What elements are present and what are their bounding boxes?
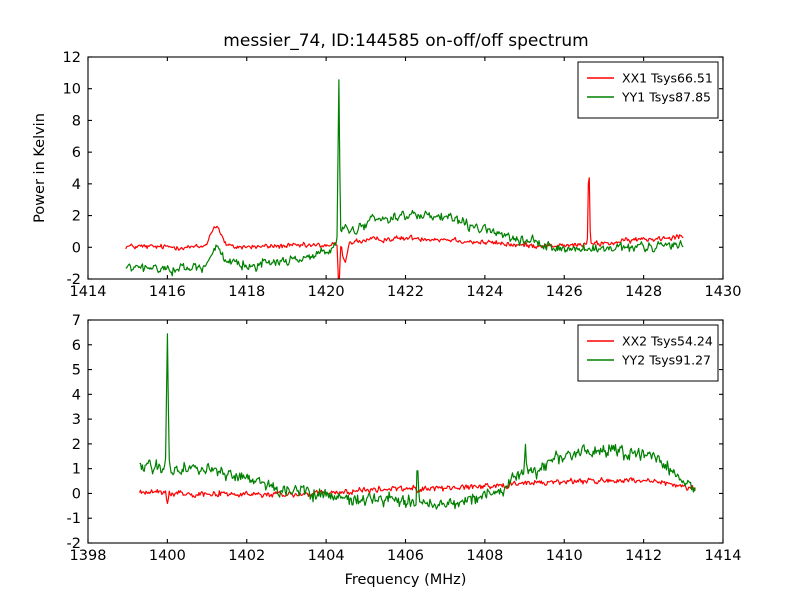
- legend: XX1 Tsys66.51YY1 Tsys87.85: [578, 62, 718, 118]
- x-tick-label: 1430: [705, 284, 742, 300]
- y-tick-label: 12: [63, 50, 81, 66]
- y-tick-label: 0: [72, 240, 81, 256]
- x-tick-label: 1418: [228, 284, 265, 300]
- legend-label: YY2 Tsys91.27: [621, 353, 711, 368]
- legend-label: XX2 Tsys54.24: [622, 334, 713, 349]
- y-tick-label: 2: [72, 437, 81, 453]
- legend: XX2 Tsys54.24YY2 Tsys91.27: [578, 325, 718, 381]
- y-tick-label: 2: [72, 209, 81, 225]
- x-tick-label: 1428: [625, 284, 662, 300]
- x-tick-label: 1410: [546, 548, 583, 564]
- y-tick-label: -2: [67, 272, 81, 288]
- x-tick-label: 1420: [308, 284, 345, 300]
- y-tick-label: 4: [72, 387, 81, 403]
- x-tick-label: 1422: [387, 284, 424, 300]
- y-tick-label: 6: [72, 145, 81, 161]
- legend-label: YY1 Tsys87.85: [621, 90, 711, 105]
- x-tick-label: 1424: [466, 284, 503, 300]
- y-tick-label: -2: [67, 536, 81, 552]
- y-tick-label: 6: [72, 338, 81, 354]
- y-tick-label: 8: [72, 113, 81, 129]
- y-tick-label: 3: [72, 412, 81, 428]
- x-tick-label: 1416: [149, 284, 186, 300]
- x-axis-label: Frequency (MHz): [345, 572, 467, 588]
- y-tick-label: 1: [72, 462, 81, 478]
- x-tick-label: 1412: [625, 548, 662, 564]
- x-tick-label: 1406: [387, 548, 424, 564]
- x-tick-label: 1414: [705, 548, 742, 564]
- page-title: messier_74, ID:144585 on-off/off spectru…: [223, 31, 588, 51]
- x-tick-label: 1400: [149, 548, 186, 564]
- y-tick-label: 5: [72, 363, 81, 379]
- y-tick-label: 0: [72, 486, 81, 502]
- y-tick-label: 4: [72, 177, 81, 193]
- y-axis-label: Power in Kelvin: [32, 113, 48, 223]
- y-tick-label: 7: [72, 313, 81, 329]
- legend-label: XX1 Tsys66.51: [622, 71, 713, 86]
- spectrum-figure: messier_74, ID:144585 on-off/off spectru…: [0, 0, 800, 600]
- y-tick-label: 10: [63, 82, 81, 98]
- x-tick-label: 1426: [546, 284, 583, 300]
- y-tick-label: -1: [67, 511, 81, 527]
- figure-canvas: messier_74, ID:144585 on-off/off spectru…: [0, 0, 800, 600]
- x-tick-label: 1404: [308, 548, 345, 564]
- x-tick-label: 1402: [228, 548, 265, 564]
- x-tick-label: 1408: [466, 548, 503, 564]
